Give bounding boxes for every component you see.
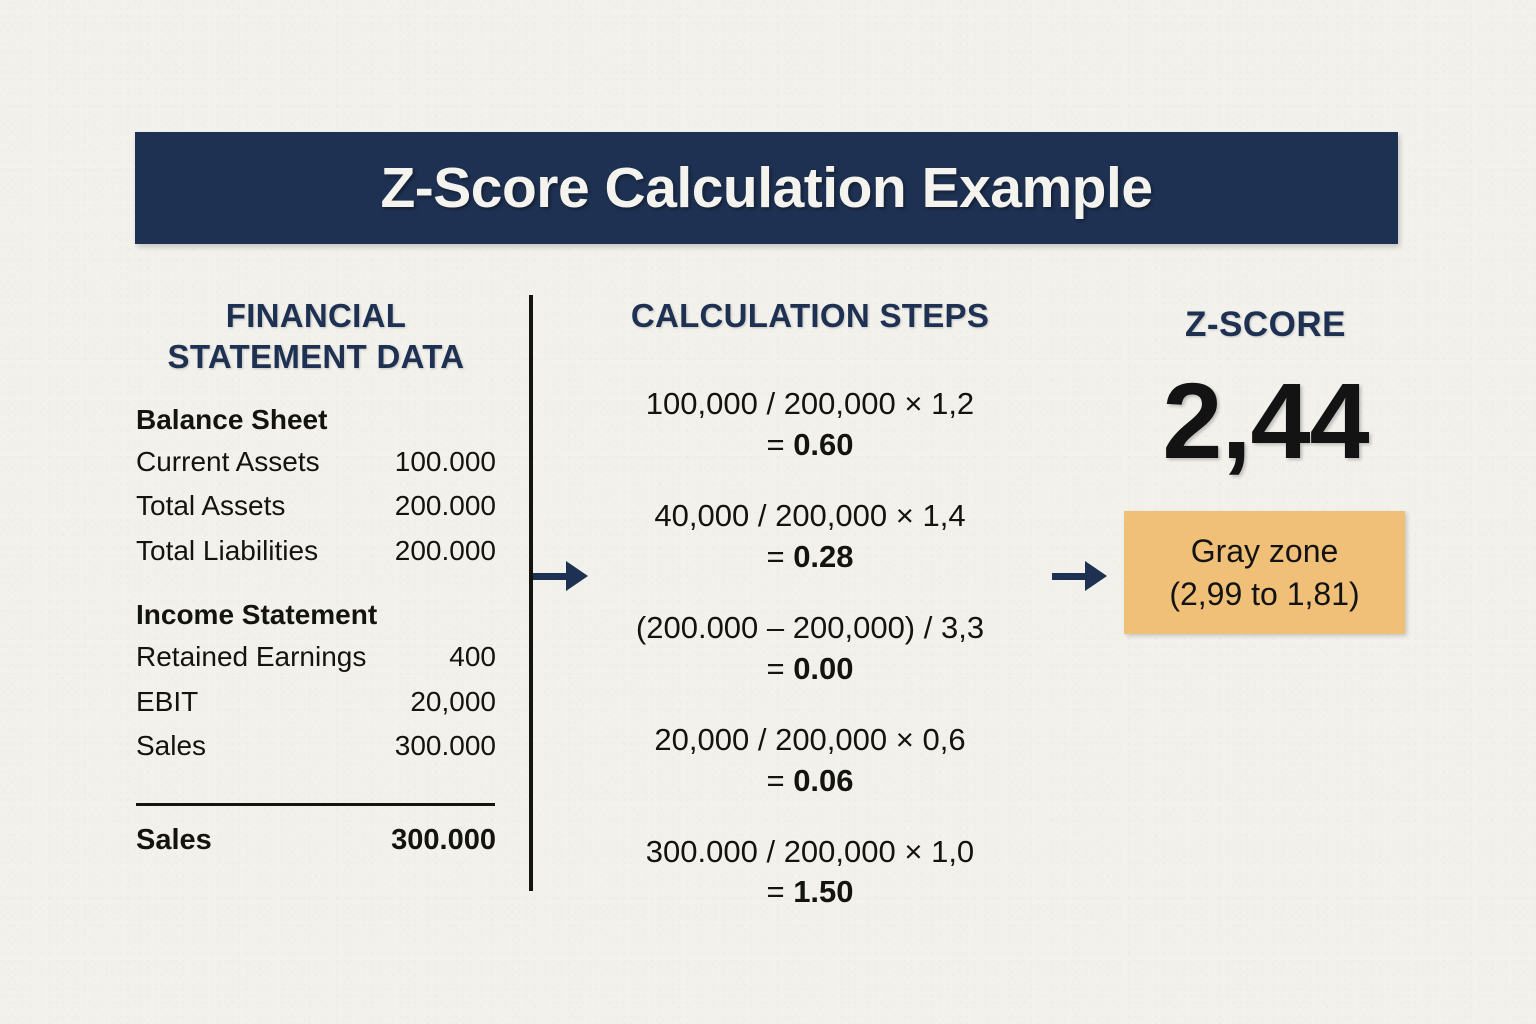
- zone-range: (2,99 to 1,81): [1169, 573, 1359, 616]
- calculation-step: 300.000 / 200,000 × 1,0 = 1.50: [565, 832, 1055, 914]
- row-label: EBIT: [136, 680, 198, 725]
- total-row: Sales 300.000: [136, 824, 496, 857]
- section-title-income-statement: Income Statement: [136, 599, 496, 631]
- row-label: Retained Earnings: [136, 635, 366, 680]
- data-row: Current Assets 100.000: [136, 440, 496, 485]
- step-formula: (200.000 – 200,000) / 3,3: [565, 608, 1055, 649]
- row-value: 100.000: [395, 440, 496, 485]
- zscore-value: 2,44: [1113, 367, 1418, 475]
- row-value: 300.000: [395, 724, 496, 769]
- step-equals-sign: =: [766, 651, 793, 686]
- arrow-shaft: [533, 573, 567, 580]
- row-label: Total Assets: [136, 484, 285, 529]
- zscore-panel: Z-SCORE 2,44 Gray zone (2,99 to 1,81): [1113, 305, 1418, 634]
- arrow-right-icon: [1052, 561, 1107, 591]
- data-row: Total Assets 200.000: [136, 484, 496, 529]
- vertical-divider: [529, 295, 533, 891]
- calculation-steps-list: 100,000 / 200,000 × 1,2 = 0.60 40,000 / …: [565, 384, 1055, 913]
- step-value: 0.28: [793, 539, 853, 574]
- step-formula: 300.000 / 200,000 × 1,0: [565, 832, 1055, 873]
- step-formula: 100,000 / 200,000 × 1,2: [565, 384, 1055, 425]
- step-equals-sign: =: [766, 539, 793, 574]
- zscore-heading: Z-SCORE: [1113, 305, 1418, 345]
- calculation-step: 40,000 / 200,000 × 1,4 = 0.28: [565, 496, 1055, 578]
- calculation-step: 20,000 / 200,000 × 0,6 = 0.06: [565, 720, 1055, 802]
- step-result: = 1.50: [565, 872, 1055, 913]
- row-value: 20,000: [410, 680, 496, 725]
- step-value: 1.50: [793, 874, 853, 909]
- arrow-shaft: [1052, 573, 1086, 580]
- section-title-balance-sheet: Balance Sheet: [136, 404, 496, 436]
- step-result: = 0.60: [565, 425, 1055, 466]
- step-equals-sign: =: [766, 427, 793, 462]
- step-result: = 0.28: [565, 537, 1055, 578]
- zone-label: Gray zone: [1191, 530, 1339, 573]
- step-equals-sign: =: [766, 763, 793, 798]
- data-row: EBIT 20,000: [136, 680, 496, 725]
- step-result: = 0.00: [565, 649, 1055, 690]
- step-value: 0.60: [793, 427, 853, 462]
- financial-data-heading-line1: FINANCIAL: [136, 295, 496, 336]
- data-row: Total Liabilities 200.000: [136, 529, 496, 574]
- step-equals-sign: =: [766, 874, 793, 909]
- page-title: Z-Score Calculation Example: [380, 155, 1152, 221]
- header-bar: Z-Score Calculation Example: [135, 132, 1398, 244]
- calculation-step: 100,000 / 200,000 × 1,2 = 0.60: [565, 384, 1055, 466]
- row-label: Current Assets: [136, 440, 320, 485]
- financial-data-heading-line2: STATEMENT DATA: [136, 336, 496, 377]
- total-value: 300.000: [391, 824, 496, 857]
- financial-data-panel: FINANCIAL STATEMENT DATA Balance Sheet C…: [136, 295, 496, 857]
- row-label: Total Liabilities: [136, 529, 318, 574]
- step-formula: 40,000 / 200,000 × 1,4: [565, 496, 1055, 537]
- row-value: 200.000: [395, 484, 496, 529]
- data-row: Retained Earnings 400: [136, 635, 496, 680]
- data-row: Sales 300.000: [136, 724, 496, 769]
- infographic-canvas: Z-Score Calculation Example FINANCIAL ST…: [0, 0, 1536, 1024]
- step-value: 0.00: [793, 651, 853, 686]
- calculation-steps-panel: CALCULATION STEPS 100,000 / 200,000 × 1,…: [565, 295, 1055, 913]
- row-value: 400: [449, 635, 496, 680]
- arrow-head: [1085, 561, 1107, 591]
- row-value: 200.000: [395, 529, 496, 574]
- row-label: Sales: [136, 724, 206, 769]
- financial-data-heading: FINANCIAL STATEMENT DATA: [136, 295, 496, 378]
- status-badge-gray-zone: Gray zone (2,99 to 1,81): [1124, 511, 1405, 634]
- total-label: Sales: [136, 824, 212, 857]
- calculation-step: (200.000 – 200,000) / 3,3 = 0.00: [565, 608, 1055, 690]
- step-formula: 20,000 / 200,000 × 0,6: [565, 720, 1055, 761]
- total-divider-rule: [136, 803, 495, 806]
- step-value: 0.06: [793, 763, 853, 798]
- step-result: = 0.06: [565, 761, 1055, 802]
- calculation-steps-heading: CALCULATION STEPS: [565, 295, 1055, 336]
